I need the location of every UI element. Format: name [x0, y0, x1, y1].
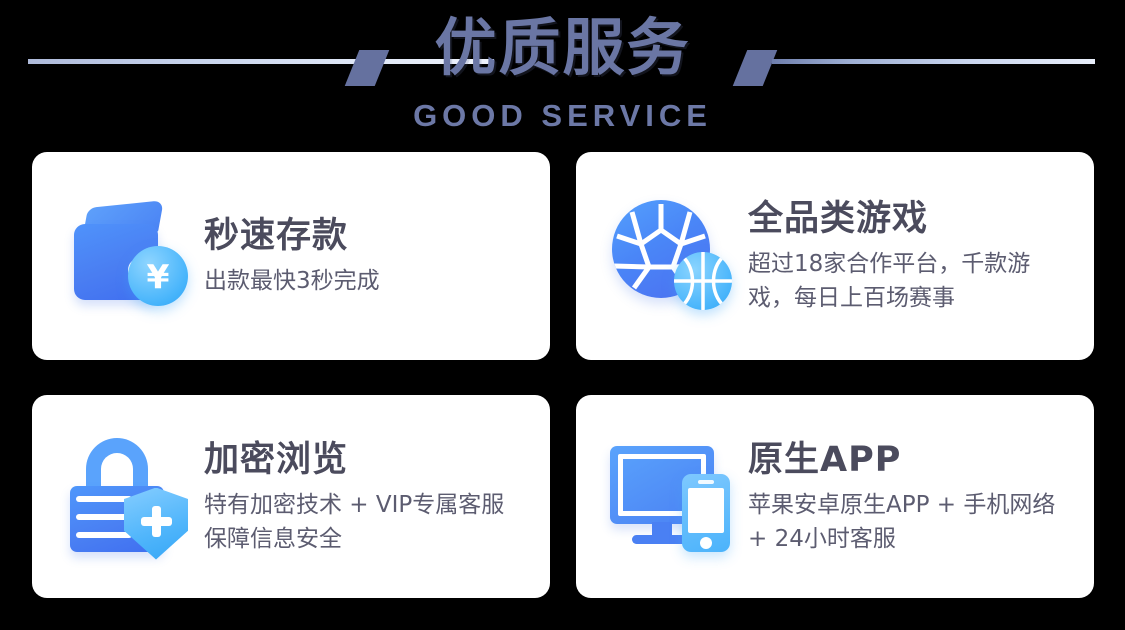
page-title: 优质服务	[0, 8, 1125, 88]
feature-title: 原生APP	[748, 438, 1068, 482]
lock-slot	[76, 514, 132, 520]
feature-card-encryption[interactable]: 加密浏览 特有加密技术 + VIP专属客服保障信息安全	[32, 395, 550, 598]
feature-card-grid: ¥ 秒速存款 出款最快3秒完成	[32, 152, 1094, 598]
feature-card-deposit[interactable]: ¥ 秒速存款 出款最快3秒完成	[32, 152, 550, 360]
soccer-basketball-icon	[602, 186, 744, 326]
wallet-icon: ¥	[58, 186, 200, 326]
feature-subtitle: 超过18家合作平台，千款游戏，每日上百场赛事	[748, 247, 1068, 315]
feature-subtitle: 特有加密技术 + VIP专属客服保障信息安全	[204, 488, 524, 556]
page-subtitle: GOOD SERVICE	[0, 98, 1125, 134]
feature-card-text: 原生APP 苹果安卓原生APP + 手机网络 + 24小时客服	[744, 438, 1068, 556]
monitor-phone-icon	[602, 427, 744, 567]
phone-screen	[688, 488, 724, 533]
phone-home-button	[700, 537, 712, 549]
smartphone-icon	[682, 474, 730, 552]
feature-card-games[interactable]: 全品类游戏 超过18家合作平台，千款游戏，每日上百场赛事	[576, 152, 1094, 360]
feature-card-text: 加密浏览 特有加密技术 + VIP专属客服保障信息安全	[200, 438, 524, 556]
lock-slot	[76, 496, 132, 502]
yuan-coin-icon: ¥	[128, 246, 188, 306]
service-feature-banner: 优质服务 GOOD SERVICE ¥ 秒速存款 出款最快3秒完成	[0, 0, 1125, 630]
banner-header: 优质服务 GOOD SERVICE	[0, 0, 1125, 152]
feature-title: 全品类游戏	[748, 197, 1068, 241]
basketball-icon	[674, 252, 732, 310]
yuan-symbol: ¥	[147, 260, 170, 293]
feature-title: 秒速存款	[204, 214, 380, 258]
feature-card-text: 秒速存款 出款最快3秒完成	[200, 214, 380, 298]
lock-shield-icon	[58, 427, 200, 567]
feature-title: 加密浏览	[204, 438, 524, 482]
lock-slot	[76, 532, 132, 538]
feature-subtitle: 苹果安卓原生APP + 手机网络 + 24小时客服	[748, 488, 1068, 556]
feature-card-native-app[interactable]: 原生APP 苹果安卓原生APP + 手机网络 + 24小时客服	[576, 395, 1094, 598]
feature-subtitle: 出款最快3秒完成	[204, 264, 380, 298]
cross-icon	[141, 517, 172, 526]
feature-card-text: 全品类游戏 超过18家合作平台，千款游戏，每日上百场赛事	[744, 197, 1068, 315]
